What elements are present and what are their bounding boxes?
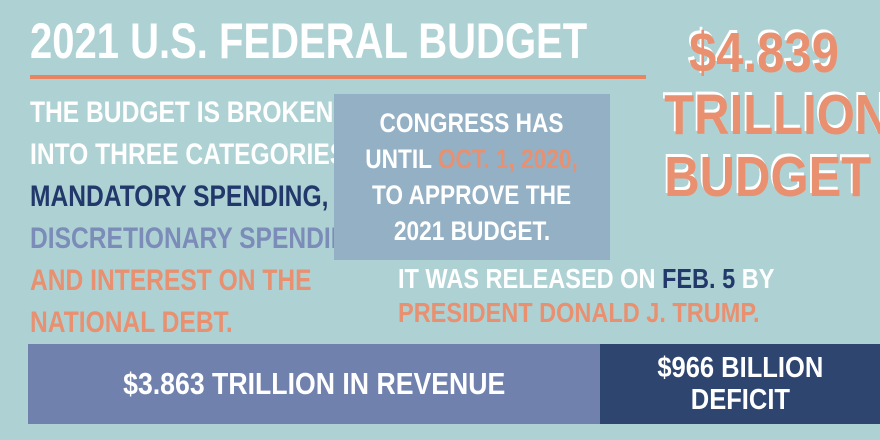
congress-line-1: CONGRESS HAS	[380, 105, 564, 141]
deficit-bar-amount: $966 BILLION	[657, 352, 823, 384]
release-suffix: BY	[735, 263, 774, 294]
categories-interest-line-2: NATIONAL DEBT.	[30, 302, 358, 344]
revenue-bar: $3.863 TRILLION IN REVENUE	[28, 344, 600, 424]
deficit-bar-word: DEFICIT	[690, 384, 789, 416]
congress-line-2-prefix: UNTIL	[366, 144, 439, 174]
categories-interest-line-1: AND INTEREST ON THE	[30, 260, 358, 302]
categories-discretionary-spending: DISCRETIONARY SPENDING	[30, 218, 358, 260]
deficit-bar: $966 BILLION DEFICIT	[600, 344, 880, 424]
release-author: PRESIDENT DONALD J. TRUMP.	[398, 296, 793, 330]
congress-line-3: TO APPROVE THE	[372, 177, 571, 213]
budget-word: BUDGET	[664, 146, 864, 208]
page-title: 2021 U.S. FEDERAL BUDGET	[30, 14, 587, 68]
release-prefix: IT WAS RELEASED ON	[398, 263, 662, 294]
congress-line-4: 2021 BUDGET.	[394, 213, 550, 249]
title-underline-rule	[30, 75, 646, 79]
release-info-block: IT WAS RELEASED ON FEB. 5 BY PRESIDENT D…	[398, 262, 868, 330]
congress-deadline-date: OCT. 1, 2020,	[438, 144, 578, 174]
categories-line-2: INTO THREE CATEGORIES:	[30, 134, 358, 176]
congress-deadline-box: CONGRESS HAS UNTIL OCT. 1, 2020, TO APPR…	[334, 94, 610, 260]
categories-line-1: THE BUDGET IS BROKEN	[30, 92, 358, 134]
infographic-canvas: 2021 U.S. FEDERAL BUDGET THE BUDGET IS B…	[0, 0, 880, 440]
budget-total-figure: $4.839 TRILLION BUDGET	[648, 22, 880, 208]
congress-line-2: UNTIL OCT. 1, 2020,	[366, 141, 579, 177]
budget-amount: $4.839	[664, 22, 864, 84]
release-date: FEB. 5	[662, 263, 735, 294]
release-line-1: IT WAS RELEASED ON FEB. 5 BY	[398, 262, 793, 296]
revenue-bar-label: $3.863 TRILLION IN REVENUE	[123, 366, 505, 402]
categories-mandatory-spending: MANDATORY SPENDING,	[30, 176, 358, 218]
budget-unit: TRILLION	[664, 84, 864, 146]
